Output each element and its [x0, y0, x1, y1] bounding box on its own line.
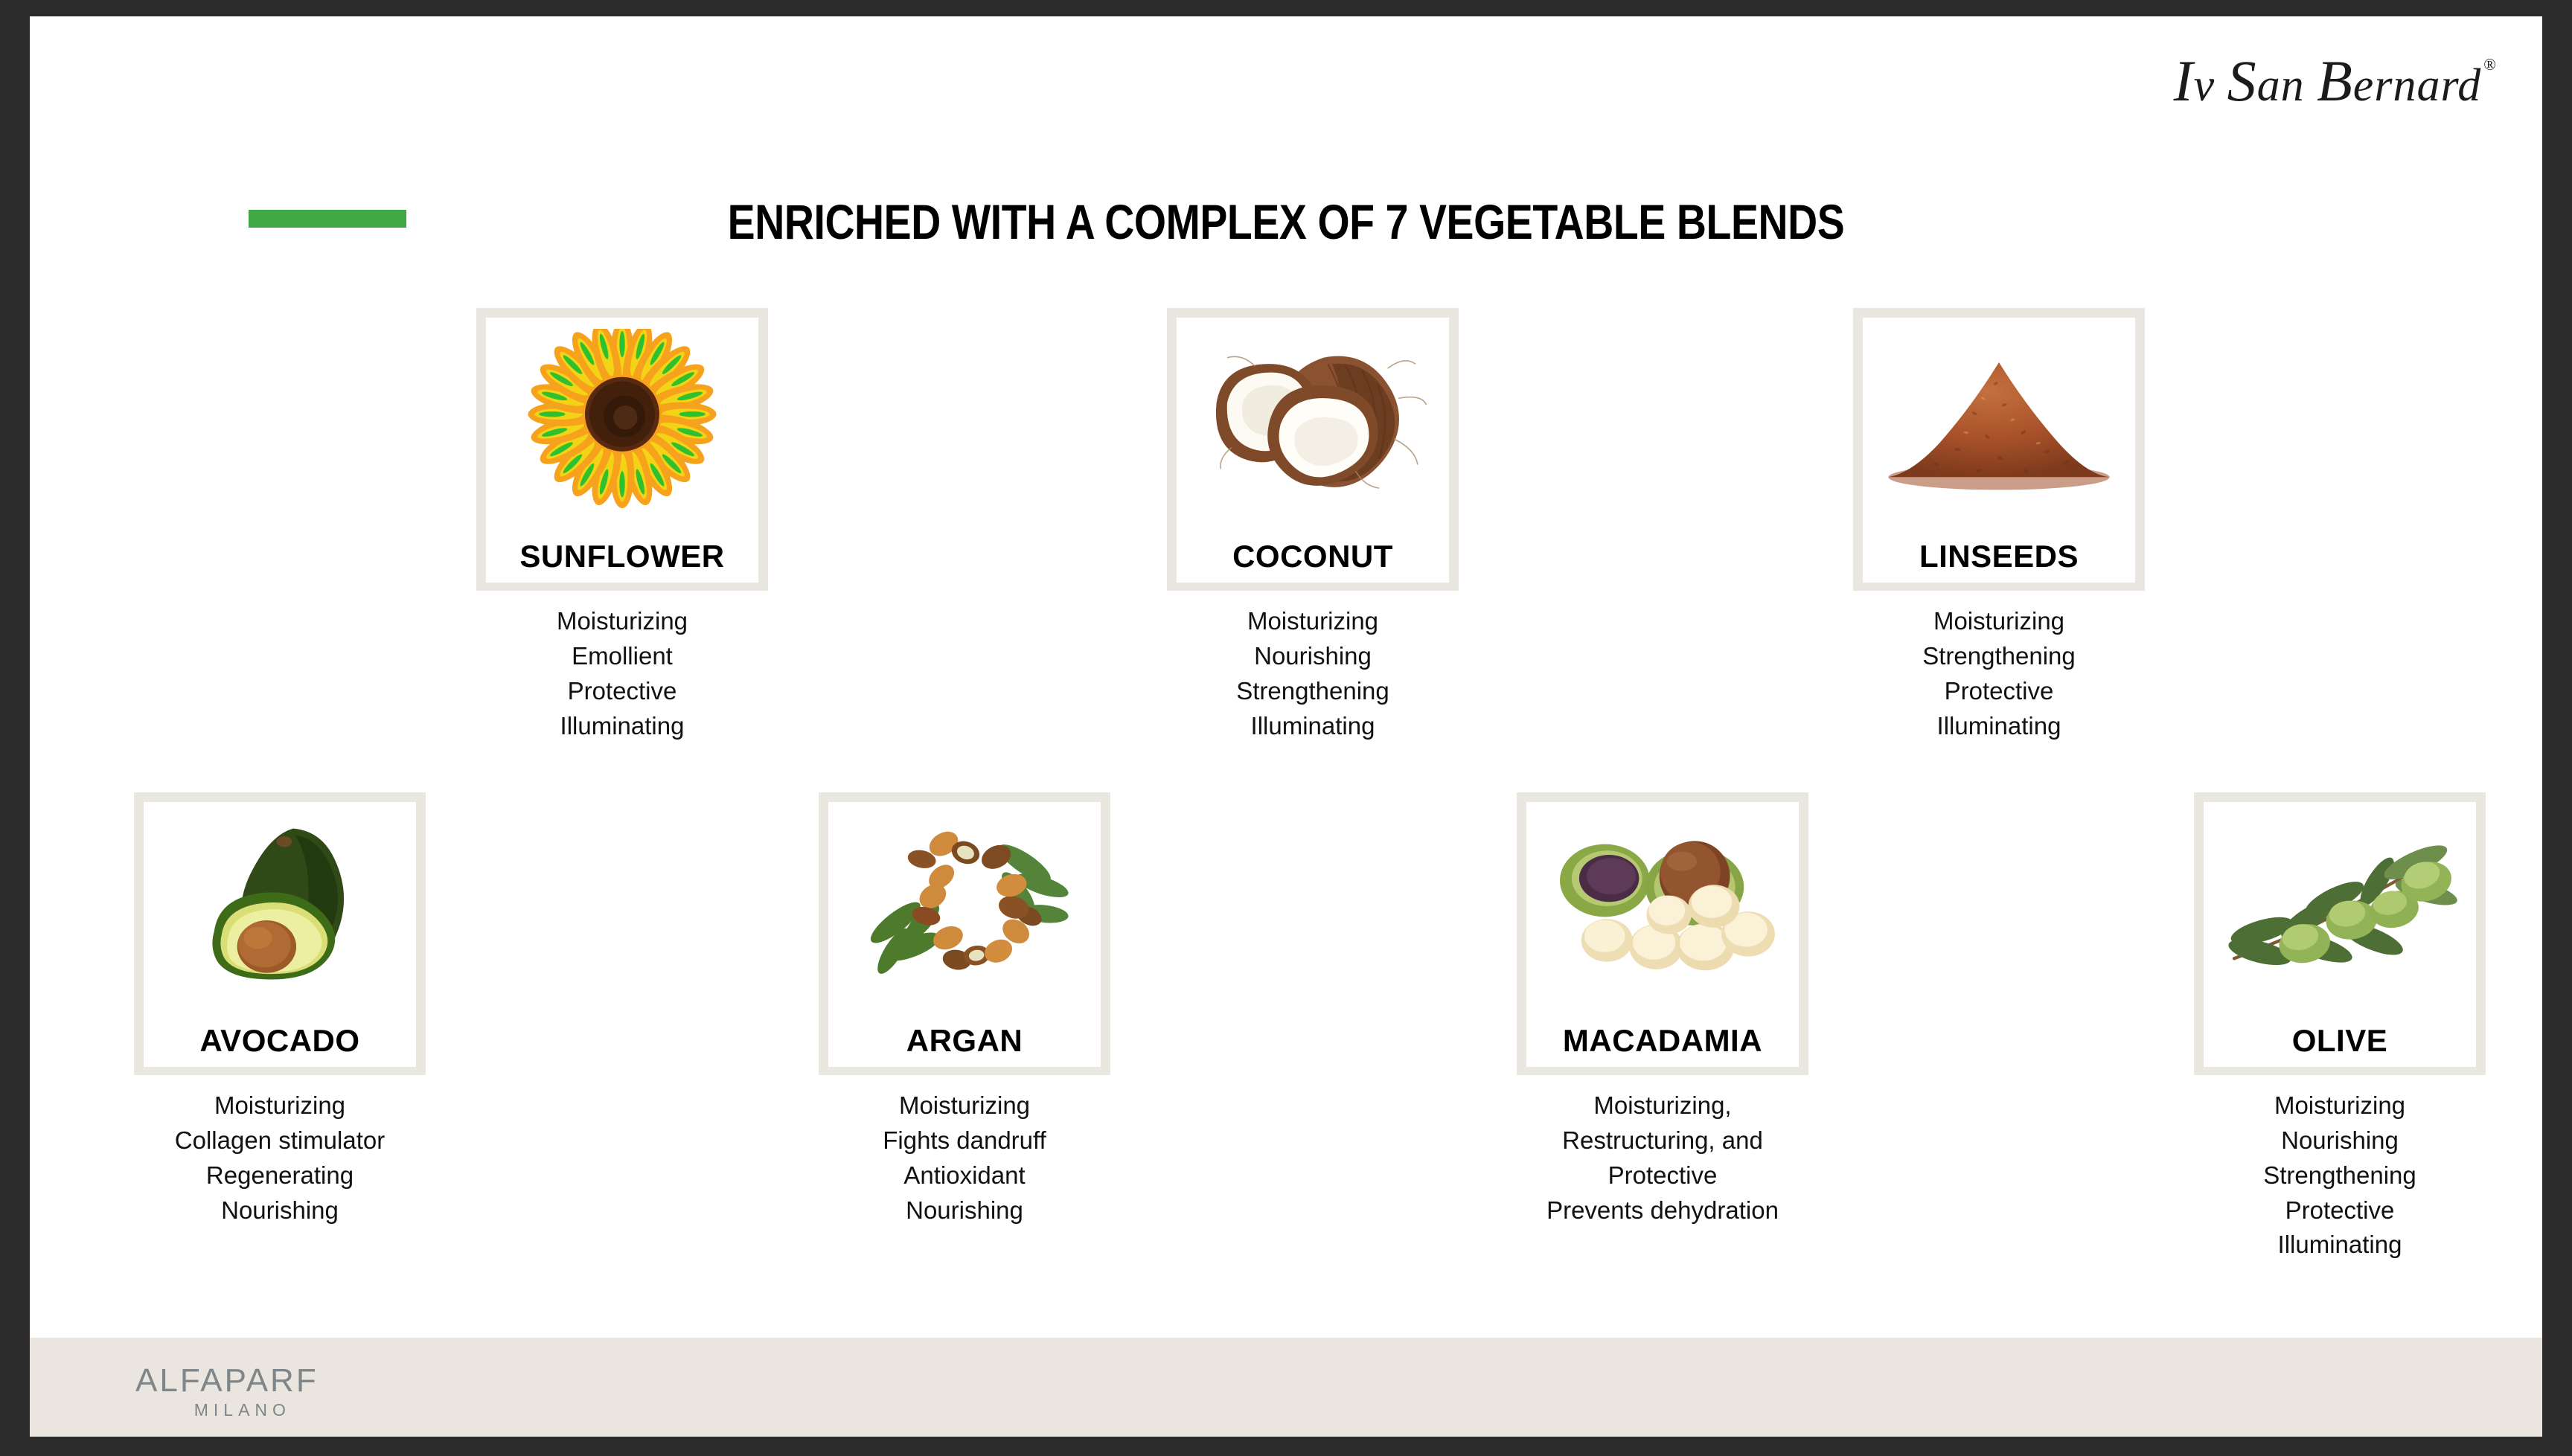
benefit-item: Nourishing	[819, 1193, 1110, 1228]
benefit-item: Illuminating	[1853, 709, 2145, 744]
sunflower-icon	[486, 322, 758, 522]
olive-icon	[2204, 806, 2476, 1006]
card-title: ARGAN	[828, 1025, 1101, 1067]
footer-logo-main: ALFAPARF	[135, 1364, 319, 1397]
benefit-item: Moisturizing	[476, 604, 768, 639]
benefit-item: Illuminating	[1167, 709, 1459, 744]
benefit-item: Protective	[1517, 1158, 1808, 1193]
card-frame: MACADAMIA	[1517, 792, 1808, 1075]
card-frame: SUNFLOWER	[476, 308, 768, 591]
card-frame: LINSEEDS	[1853, 308, 2145, 591]
coconut-icon	[1177, 322, 1449, 522]
ingredient-card-avocado[interactable]: AVOCADO Moisturizing Collagen stimulator…	[134, 792, 426, 1228]
benefit-item: Moisturizing	[1167, 604, 1459, 639]
benefit-item: Prevents dehydration	[1517, 1193, 1808, 1228]
benefit-item: Antioxidant	[819, 1158, 1110, 1193]
ingredient-card-olive[interactable]: OLIVE Moisturizing Nourishing Strengthen…	[2194, 792, 2486, 1263]
card-title: MACADAMIA	[1526, 1025, 1799, 1067]
card-benefits: Moisturizing Emollient Protective Illumi…	[476, 604, 768, 743]
ingredient-card-linseeds[interactable]: LINSEEDS Moisturizing Strengthening Prot…	[1853, 308, 2145, 743]
slide-outer-border: Iv San Bernard ® ENRICHED WITH A COMPLEX…	[0, 0, 2572, 1456]
benefit-item: Collagen stimulator	[134, 1123, 426, 1158]
card-frame: COCONUT	[1167, 308, 1459, 591]
card-title: OLIVE	[2204, 1025, 2476, 1067]
card-frame: AVOCADO	[134, 792, 426, 1075]
benefit-item: Protective	[476, 674, 768, 709]
footer-logo-sub: MILANO	[135, 1402, 319, 1419]
benefit-item: Moisturizing	[1853, 604, 2145, 639]
benefit-item: Moisturizing	[134, 1088, 426, 1123]
card-title: COCONUT	[1177, 541, 1449, 583]
benefit-item: Illuminating	[476, 709, 768, 744]
benefit-item: Protective	[1853, 674, 2145, 709]
card-benefits: Moisturizing Collagen stimulator Regener…	[134, 1088, 426, 1228]
benefit-item: Nourishing	[2194, 1123, 2486, 1158]
benefit-item: Moisturizing,	[1517, 1088, 1808, 1123]
benefit-item: Illuminating	[2194, 1228, 2486, 1263]
benefit-item: Strengthening	[2194, 1158, 2486, 1193]
card-title: LINSEEDS	[1863, 541, 2135, 583]
argan-icon	[828, 806, 1101, 1006]
card-benefits: Moisturizing, Restructuring, and Protect…	[1517, 1088, 1808, 1228]
benefit-item: Fights dandruff	[819, 1123, 1110, 1158]
avocado-icon	[144, 806, 416, 1006]
card-benefits: Moisturizing Fights dandruff Antioxidant…	[819, 1088, 1110, 1228]
benefit-item: Regenerating	[134, 1158, 426, 1193]
linseeds-icon	[1863, 322, 2135, 522]
benefit-item: Nourishing	[134, 1193, 426, 1228]
ingredient-card-macadamia[interactable]: MACADAMIA Moisturizing, Restructuring, a…	[1517, 792, 1808, 1228]
card-benefits: Moisturizing Nourishing Strengthening Il…	[1167, 604, 1459, 743]
benefit-item: Nourishing	[1167, 639, 1459, 674]
ingredient-grid: SUNFLOWER Moisturizing Emollient Protect…	[30, 16, 2542, 1437]
card-title: SUNFLOWER	[486, 541, 758, 583]
card-frame: OLIVE	[2194, 792, 2486, 1075]
ingredient-card-sunflower[interactable]: SUNFLOWER Moisturizing Emollient Protect…	[476, 308, 768, 743]
benefit-item: Emollient	[476, 639, 768, 674]
benefit-item: Restructuring, and	[1517, 1123, 1808, 1158]
card-benefits: Moisturizing Nourishing Strengthening Pr…	[2194, 1088, 2486, 1263]
benefit-item: Protective	[2194, 1193, 2486, 1228]
alfaparf-milano-logo: ALFAPARF MILANO	[135, 1364, 319, 1419]
card-frame: ARGAN	[819, 792, 1110, 1075]
macadamia-icon	[1526, 806, 1799, 1006]
footer-bar: ALFAPARF MILANO	[30, 1338, 2542, 1437]
benefit-item: Strengthening	[1853, 639, 2145, 674]
slide-canvas: Iv San Bernard ® ENRICHED WITH A COMPLEX…	[30, 16, 2542, 1437]
benefit-item: Moisturizing	[2194, 1088, 2486, 1123]
card-title: AVOCADO	[144, 1025, 416, 1067]
ingredient-card-coconut[interactable]: COCONUT Moisturizing Nourishing Strength…	[1167, 308, 1459, 743]
benefit-item: Strengthening	[1167, 674, 1459, 709]
card-benefits: Moisturizing Strengthening Protective Il…	[1853, 604, 2145, 743]
ingredient-card-argan[interactable]: ARGAN Moisturizing Fights dandruff Antio…	[819, 792, 1110, 1228]
benefit-item: Moisturizing	[819, 1088, 1110, 1123]
